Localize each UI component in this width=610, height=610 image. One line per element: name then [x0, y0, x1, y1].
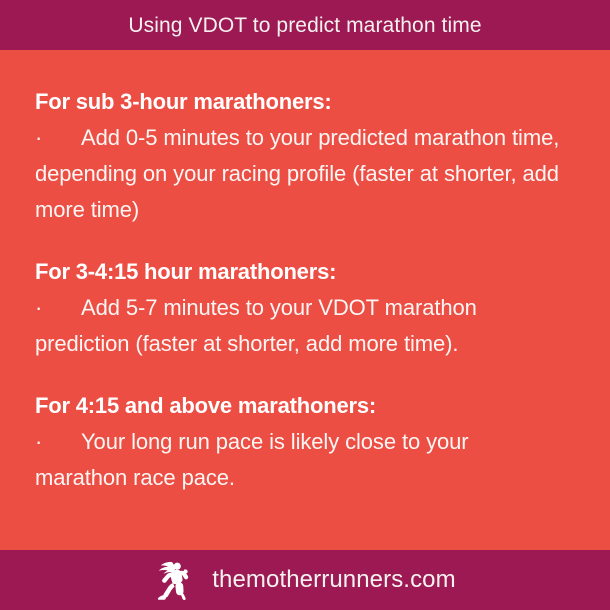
section-3-to-415-hour: For 3-4:15 hour marathoners: ·Add 5-7 mi…	[35, 254, 576, 362]
header-band: Using VDOT to predict marathon time	[0, 0, 610, 50]
section-heading: For 4:15 and above marathoners:	[35, 388, 576, 424]
section-sub-3-hour: For sub 3-hour marathoners: ·Add 0-5 min…	[35, 84, 576, 228]
running-woman-icon	[154, 560, 190, 600]
footer-band: themotherrunners.com	[0, 550, 610, 610]
section-415-and-above: For 4:15 and above marathoners: ·Your lo…	[35, 388, 576, 496]
content-body: For sub 3-hour marathoners: ·Add 0-5 min…	[0, 50, 610, 550]
section-body: ·Your long run pace is likely close to y…	[35, 424, 565, 496]
section-body-text: Add 5-7 minutes to your VDOT marathon pr…	[35, 295, 477, 356]
section-heading: For 3-4:15 hour marathoners:	[35, 254, 576, 290]
section-body: ·Add 0-5 minutes to your predicted marat…	[35, 120, 565, 228]
section-body: ·Add 5-7 minutes to your VDOT marathon p…	[35, 290, 565, 362]
bullet-icon: ·	[35, 424, 81, 460]
infographic-card: Using VDOT to predict marathon time For …	[0, 0, 610, 610]
section-body-text: Your long run pace is likely close to yo…	[35, 429, 469, 490]
bullet-icon: ·	[35, 290, 81, 326]
section-heading: For sub 3-hour marathoners:	[35, 84, 576, 120]
section-body-text: Add 0-5 minutes to your predicted marath…	[35, 125, 559, 222]
bullet-icon: ·	[35, 120, 81, 156]
website-url[interactable]: themotherrunners.com	[212, 568, 455, 592]
page-title: Using VDOT to predict marathon time	[128, 15, 481, 36]
